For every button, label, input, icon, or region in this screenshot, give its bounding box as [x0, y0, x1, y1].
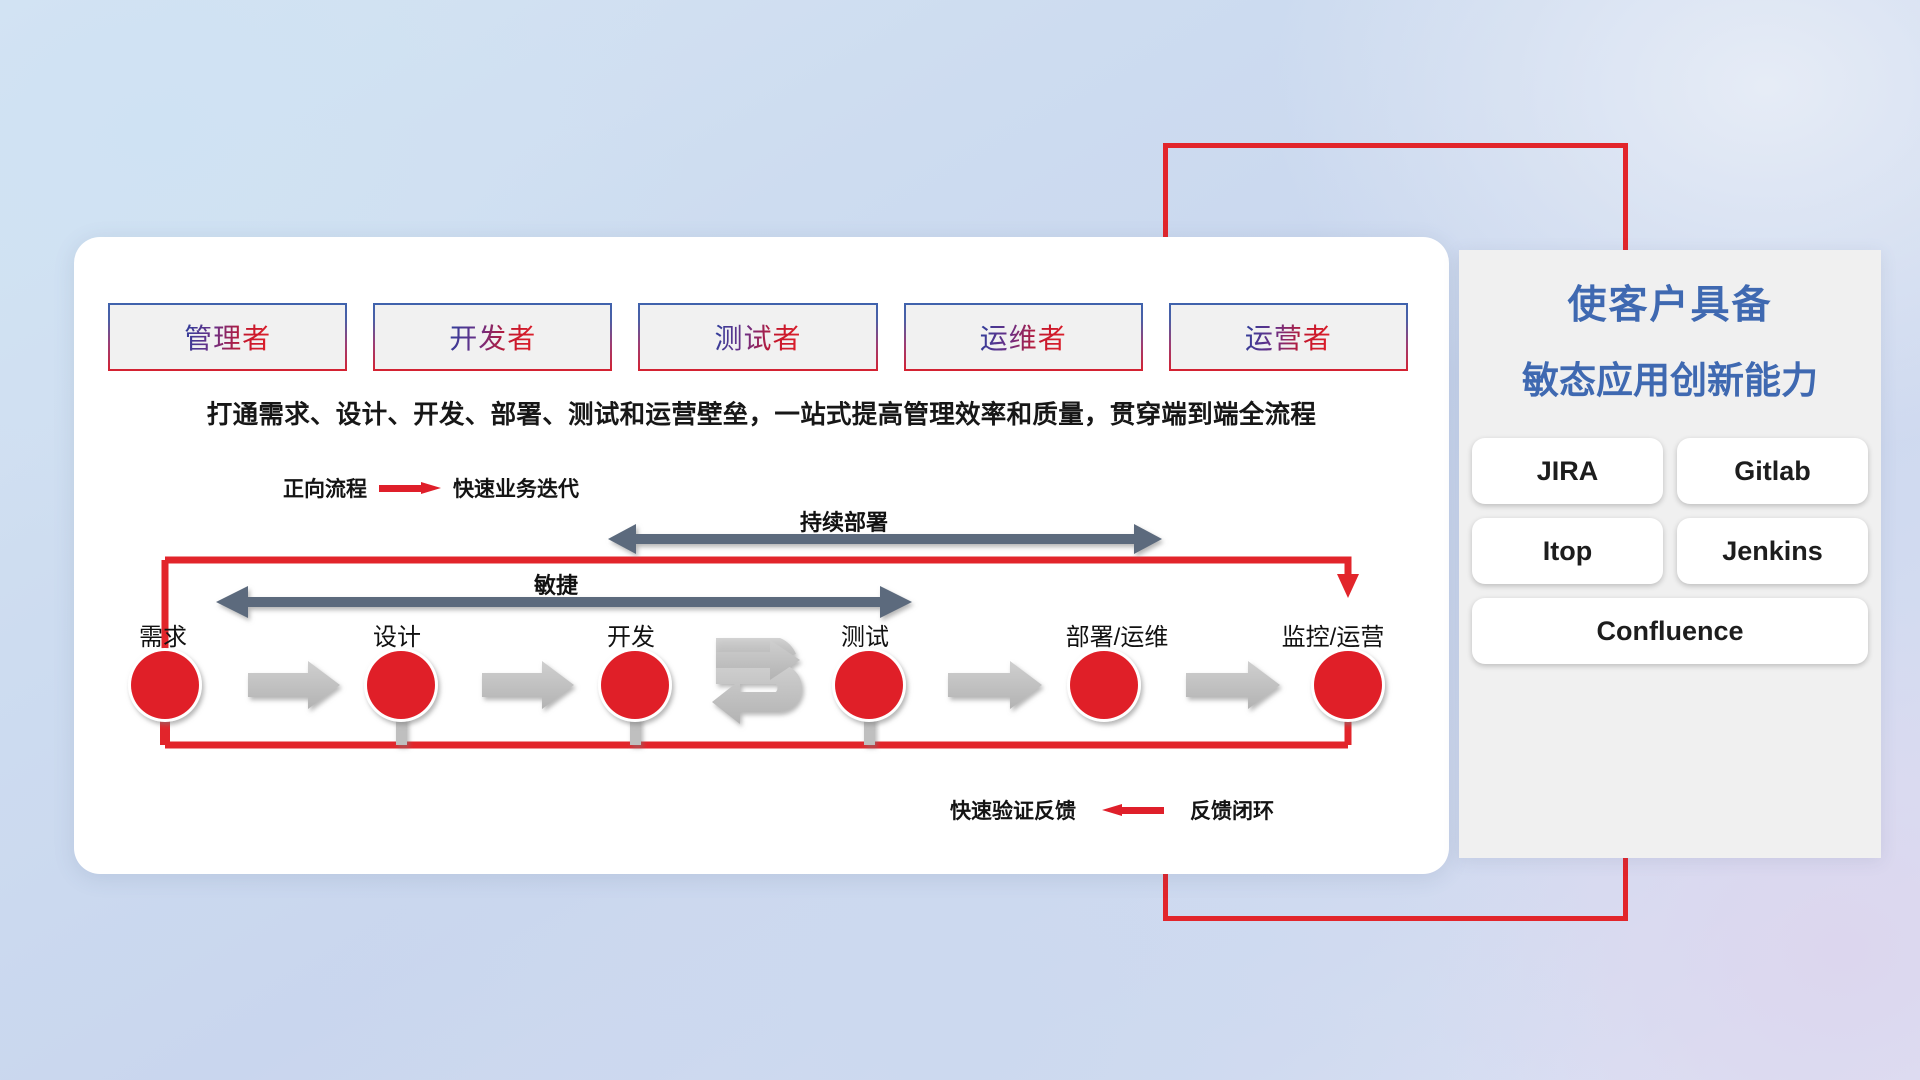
red-loop-top-path — [165, 560, 1348, 578]
stage-label-deploy-ops: 部署/运维 — [1066, 617, 1169, 652]
stage-node-deploy-ops — [1067, 648, 1141, 722]
stage-label-design: 设计 — [373, 617, 421, 652]
stage-node-design — [364, 648, 438, 722]
stage-node-development — [598, 648, 672, 722]
arrow-left-red-icon — [1102, 804, 1164, 816]
legend-forward-left-label: 正向流程 — [283, 473, 367, 503]
stage-label-monitor-operations: 监控/运营 — [1282, 617, 1385, 652]
span-label-agile: 敏捷 — [534, 568, 578, 600]
arrow-right-red-icon — [379, 482, 441, 494]
flow-arrow-design-to-development — [482, 661, 574, 709]
stage-node-testing — [832, 648, 906, 722]
red-loop-down-arrowhead-icon — [1337, 574, 1359, 598]
pipeline-graphics — [0, 0, 1920, 1080]
flow-arrow-dev-test-loop-icon — [712, 638, 802, 724]
stage-label-development: 开发 — [607, 617, 655, 652]
legend-feedback-left-label: 快速验证反馈 — [950, 795, 1076, 825]
stage-label-requirements: 需求 — [139, 617, 187, 652]
legend-forward-flow: 正向流程 快速业务迭代 — [283, 473, 579, 503]
span-label-continuous-deployment: 持续部署 — [800, 505, 888, 537]
stage-label-testing: 测试 — [841, 617, 889, 652]
flow-arrow-deploy-to-monitor — [1186, 661, 1280, 709]
flow-arrow-requirements-to-design — [248, 661, 340, 709]
legend-forward-right-label: 快速业务迭代 — [453, 473, 579, 503]
legend-feedback-loop: 快速验证反馈 反馈闭环 — [950, 795, 1274, 825]
legend-feedback-right-label: 反馈闭环 — [1190, 795, 1274, 825]
flow-arrow-testing-to-deploy — [948, 661, 1042, 709]
stage-node-requirements — [128, 648, 202, 722]
stage-node-monitor-operations — [1311, 648, 1385, 722]
